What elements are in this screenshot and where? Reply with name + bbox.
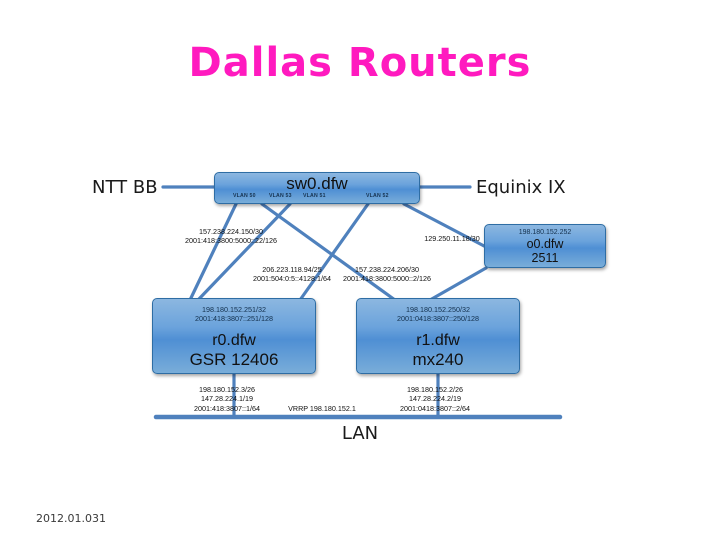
wire-vlan53-r1 xyxy=(262,204,395,300)
vlan-port-row: VLAN 50 VLAN 53 VLAN 51 VLAN 52 xyxy=(215,193,421,203)
wire-vlan51-r0 xyxy=(198,204,290,300)
slide-canvas: Dallas Routers sw0.dfw xyxy=(0,0,720,540)
annotation-console-link: 129.250.11.18/30 xyxy=(399,234,505,243)
annotation-lan-left-ipv4-secondary: 147.28.224.1/19 xyxy=(163,394,291,403)
vlan-label-50: VLAN 50 xyxy=(233,193,256,199)
router1-model-label: mx240 xyxy=(357,350,519,370)
router0-ipv6-label: 2001:418:3807::251/128 xyxy=(153,314,315,323)
annotation-lan-right-ipv6: 2001:0418:3807::2/64 xyxy=(370,404,500,413)
page-title: Dallas Routers xyxy=(0,40,720,86)
router0-model-label: GSR 12406 xyxy=(153,350,315,370)
edge-label-lan: LAN xyxy=(0,423,720,444)
vlan-label-53: VLAN 53 xyxy=(269,193,292,199)
vlan-label-52: VLAN 52 xyxy=(366,193,389,199)
node-switch-sw0dfw[interactable]: sw0.dfw VLAN 50 VLAN 53 VLAN 51 VLAN 52 xyxy=(214,172,420,204)
slide-footer-date: 2012.01.031 xyxy=(36,512,106,525)
wire-vlan52-r1 xyxy=(300,204,368,300)
edge-label-ntt-bb: NTT BB xyxy=(92,177,158,198)
annotation-lan-right: 198.180.152.2/26 147.28.224.2/19 2001:04… xyxy=(370,385,500,413)
router1-name-label: r1.dfw xyxy=(357,331,519,350)
console-model-label: 2511 xyxy=(485,251,605,265)
annotation-console-link-ipv4: 129.250.11.18/30 xyxy=(399,234,505,243)
node-router-r1dfw[interactable]: 198.180.152.250/32 2001:0418:3807::250/1… xyxy=(356,298,520,374)
node-router-r0dfw[interactable]: 198.180.152.251/32 2001:418:3807::251/12… xyxy=(152,298,316,374)
annotation-ntt-uplink-ipv4: 157.238.224.150/30 xyxy=(166,227,296,236)
annotation-lan-vrrp: VRRP 198.180.152.1 xyxy=(272,404,372,413)
switch-name-label: sw0.dfw xyxy=(215,175,419,193)
annotation-ntt-uplink-ipv6: 2001:418:3800:5000::22/126 xyxy=(166,236,296,245)
annotation-lan-right-ipv4-secondary: 147.28.224.2/19 xyxy=(370,394,500,403)
annotation-lan-left-ipv4: 198.180.152.3/26 xyxy=(163,385,291,394)
annotation-lan-right-ipv4: 198.180.152.2/26 xyxy=(370,385,500,394)
annotation-ntt-uplink: 157.238.224.150/30 2001:418:3800:5000::2… xyxy=(166,227,296,246)
annotation-lan-vrrp-address: VRRP 198.180.152.1 xyxy=(272,404,372,413)
router0-ipv4-label: 198.180.152.251/32 xyxy=(153,305,315,314)
edge-label-equinix-ix: Equinix IX xyxy=(476,177,566,198)
wire-vlan50-r0 xyxy=(190,204,236,300)
router1-ipv4-label: 198.180.152.250/32 xyxy=(357,305,519,314)
router0-name-label: r0.dfw xyxy=(153,331,315,350)
node-console-o0dfw[interactable]: 198.180.152.252 o0.dfw 2511 xyxy=(484,224,606,268)
annotation-ntt-uplink-secondary-ipv6: 2001:418:3800:5000::2/126 xyxy=(320,274,454,283)
router1-ipv6-label: 2001:0418:3807::250/128 xyxy=(357,314,519,323)
annotation-ntt-uplink-secondary: 157.238.224.206/30 2001:418:3800:5000::2… xyxy=(320,265,454,284)
vlan-label-51: VLAN 51 xyxy=(303,193,326,199)
annotation-ntt-uplink-secondary-ipv4: 157.238.224.206/30 xyxy=(320,265,454,274)
